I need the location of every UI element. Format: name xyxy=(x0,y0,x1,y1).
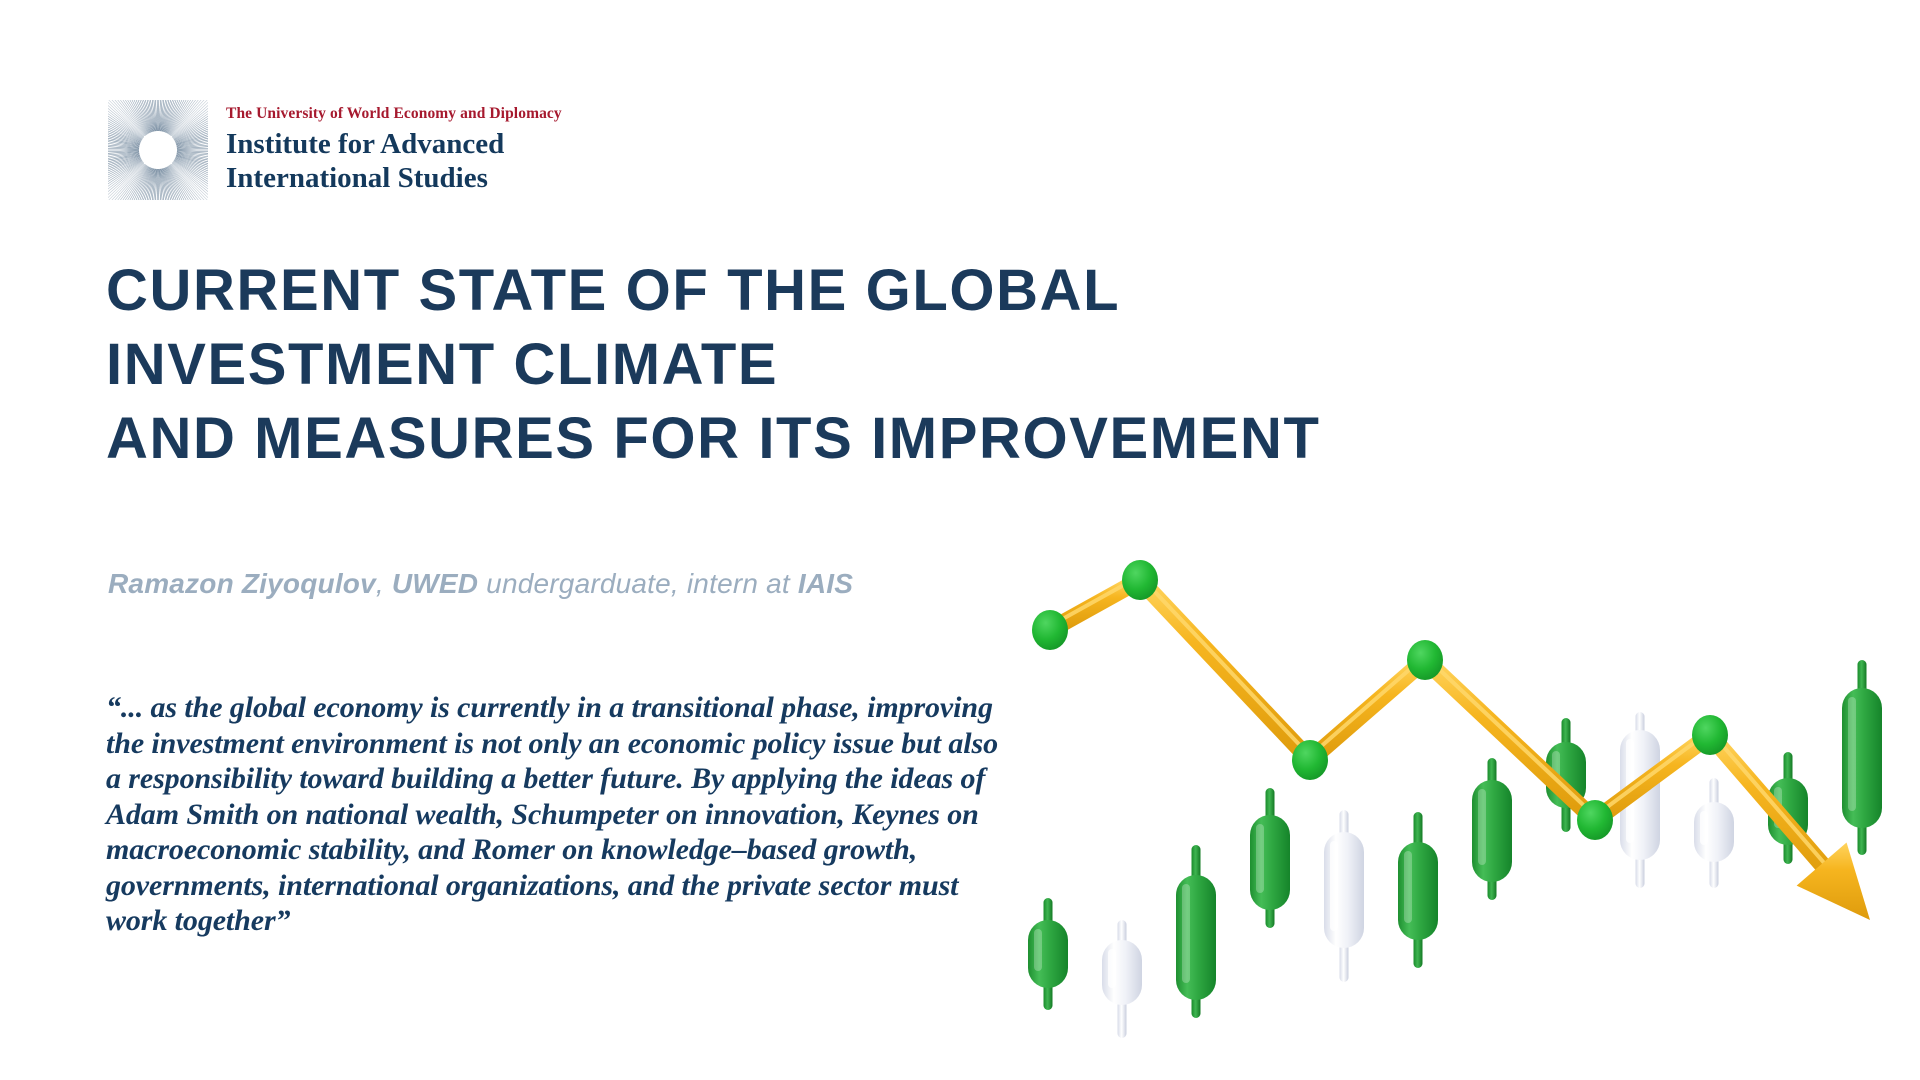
author-byline: Ramazon Ziyoqulov, UWED undergarduate, i… xyxy=(108,568,853,600)
logo-institute-line-2: International Studies xyxy=(226,162,562,196)
institution-logo: The University of World Economy and Dipl… xyxy=(106,98,562,202)
byline-organization-secondary: IAIS xyxy=(798,568,853,599)
byline-author: Ramazon Ziyoqulov xyxy=(108,568,376,599)
logo-university-line: The University of World Economy and Dipl… xyxy=(226,106,562,122)
slide-canvas: The University of World Economy and Dipl… xyxy=(0,0,1920,1080)
trend-arrow xyxy=(1032,560,1870,920)
candlestick-series xyxy=(1028,660,1882,1038)
title-line-1: CURRENT STATE OF THE GLOBAL xyxy=(106,254,1526,328)
byline-role: undergarduate, intern at xyxy=(478,568,798,599)
byline-separator: , xyxy=(376,568,392,599)
byline-organization: UWED xyxy=(392,568,478,599)
pull-quote: “... as the global economy is currently … xyxy=(106,690,1016,939)
radial-burst-square-icon xyxy=(106,98,210,202)
candlestick-growth-illustration xyxy=(1010,360,1920,1080)
logo-institute-line-1: Institute for Advanced xyxy=(226,128,562,162)
